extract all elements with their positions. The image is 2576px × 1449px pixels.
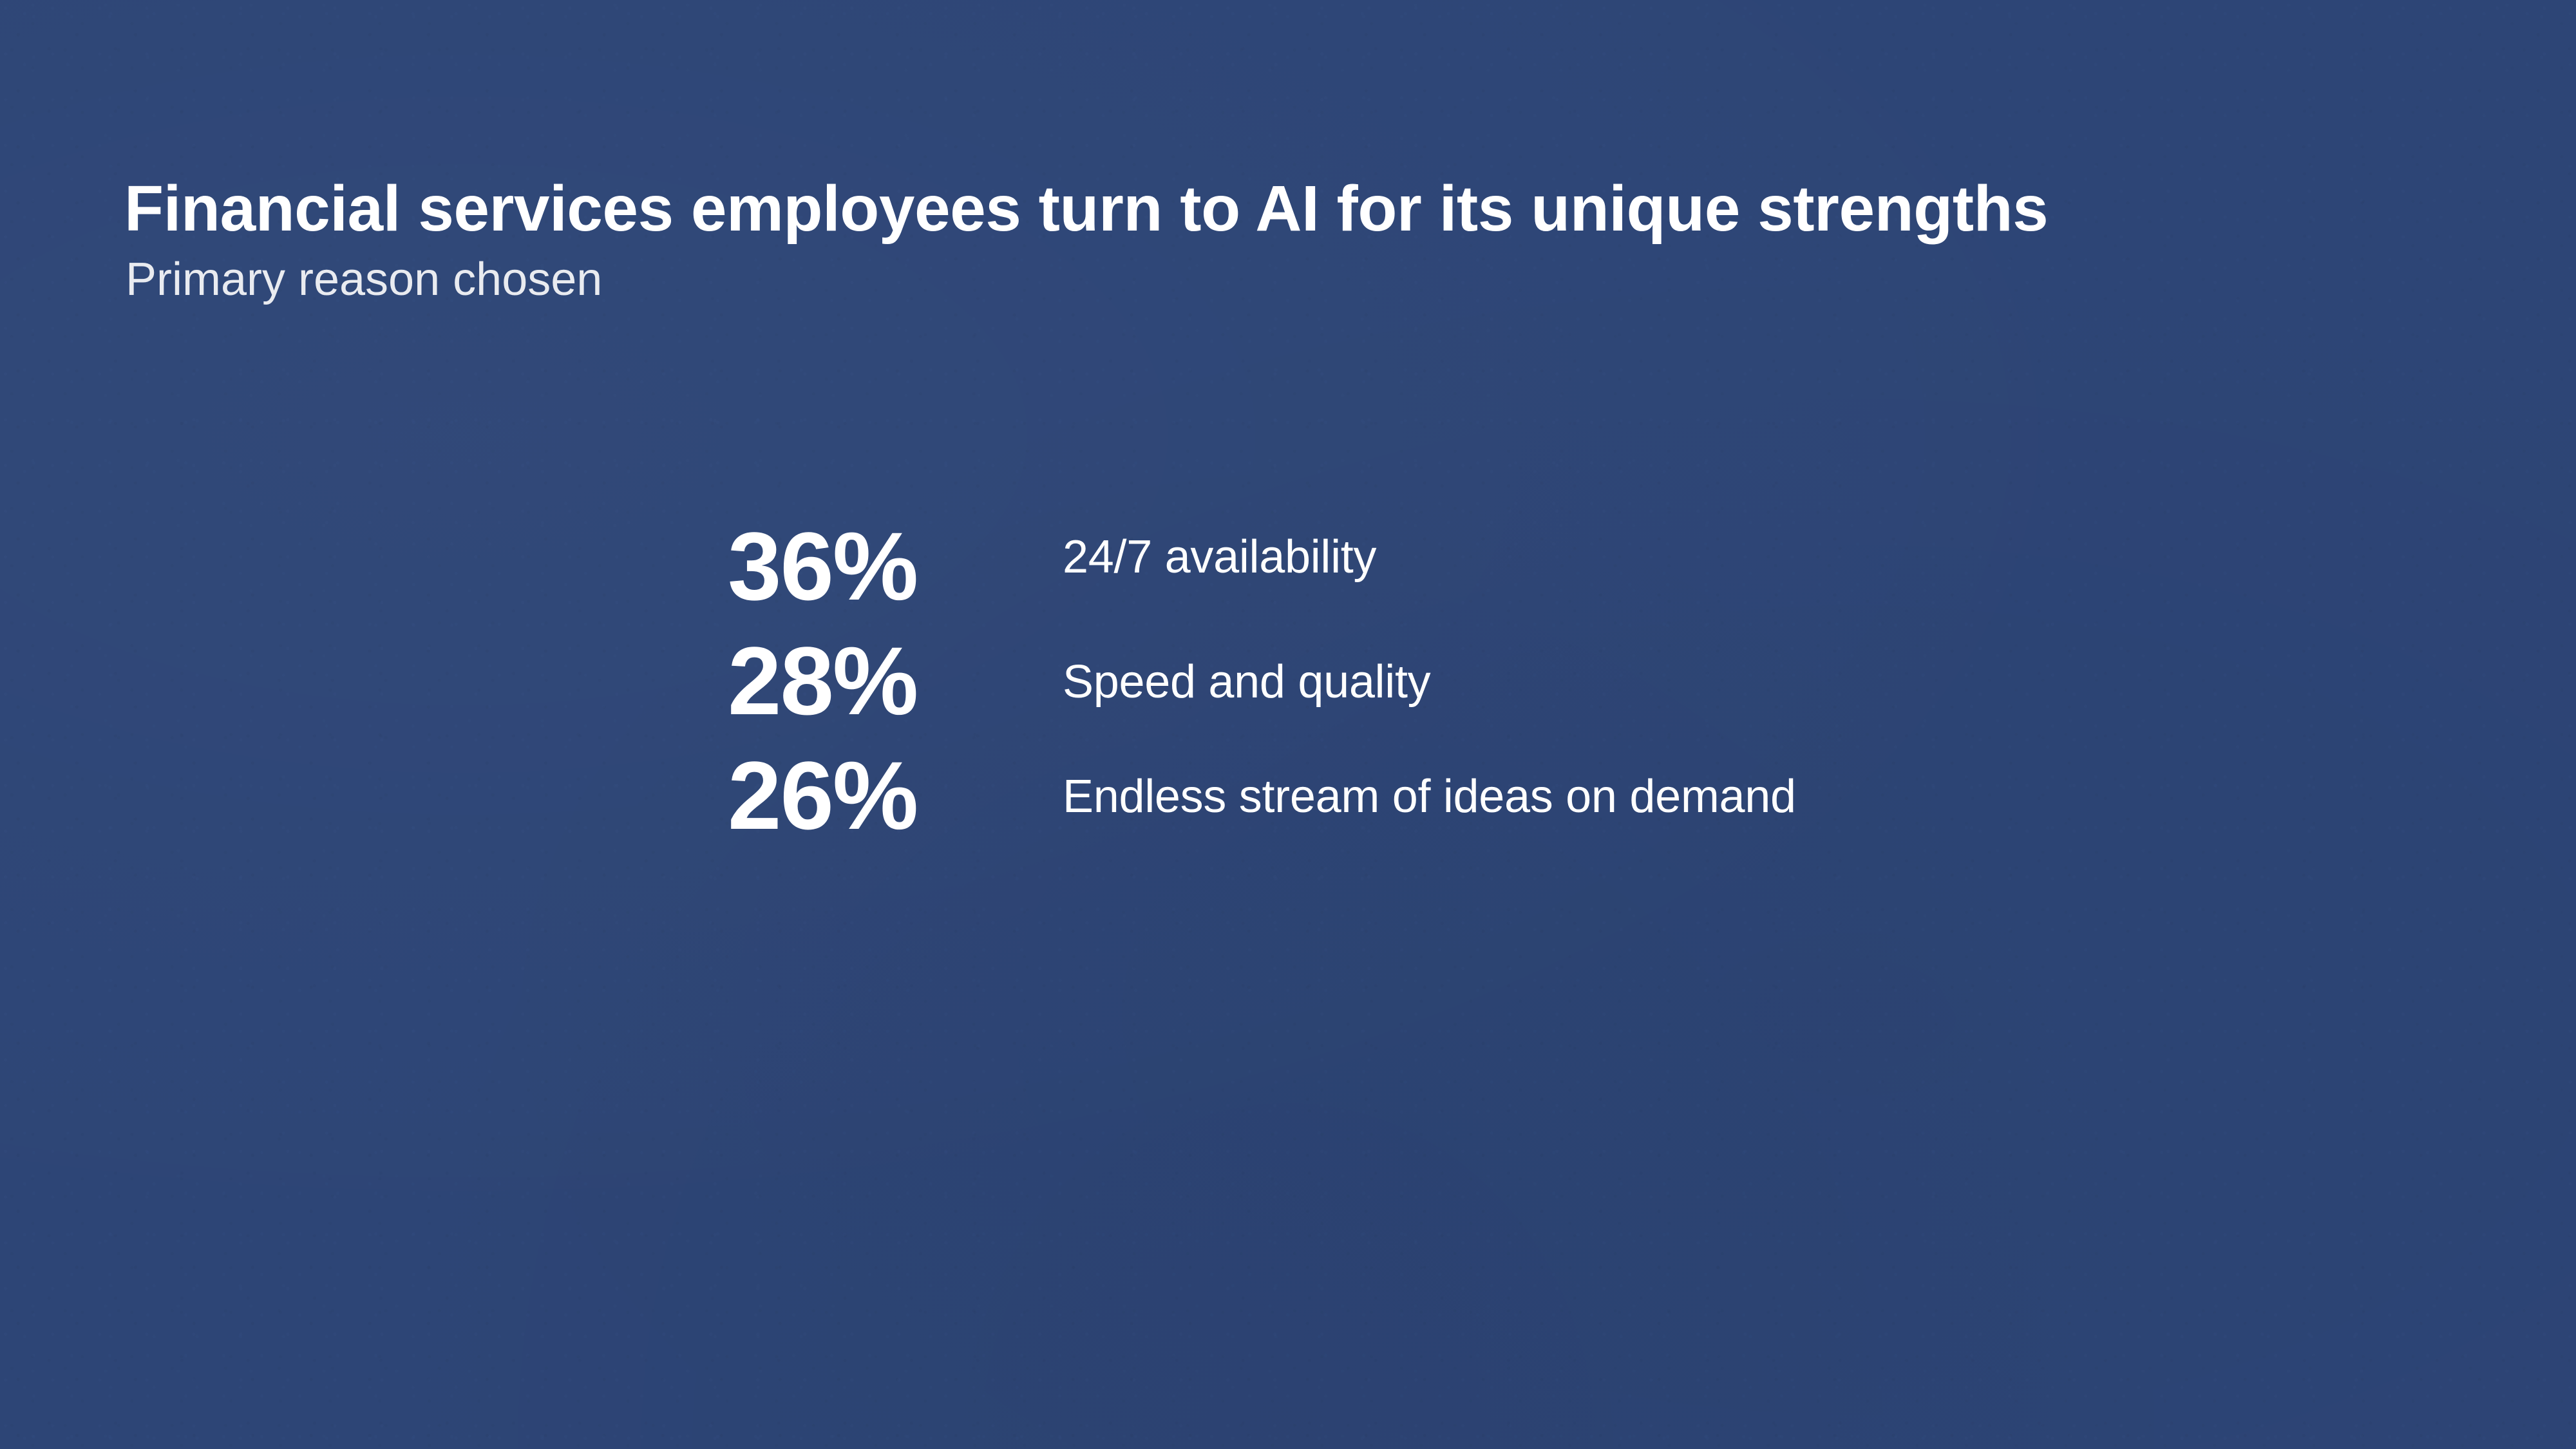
- page-subtitle: Primary reason chosen: [126, 254, 602, 305]
- stat-list: 36% 24/7 availability 28% Speed and qual…: [728, 509, 2467, 853]
- stat-label: 24/7 availability: [1063, 534, 2467, 580]
- stat-row: 36% 24/7 availability: [728, 509, 2467, 623]
- stat-row: 26% Endless stream of ideas on demand: [728, 738, 2467, 853]
- page-title: Financial services employees turn to AI …: [124, 175, 2048, 243]
- stat-value: 26%: [728, 747, 1063, 844]
- stat-row: 28% Speed and quality: [728, 623, 2467, 738]
- stat-label: Endless stream of ideas on demand: [1063, 773, 2467, 820]
- stat-value: 36%: [728, 518, 1063, 614]
- stat-value: 28%: [728, 632, 1063, 729]
- stat-label: Speed and quality: [1063, 659, 2467, 705]
- slide-canvas: Financial services employees turn to AI …: [0, 0, 2576, 1449]
